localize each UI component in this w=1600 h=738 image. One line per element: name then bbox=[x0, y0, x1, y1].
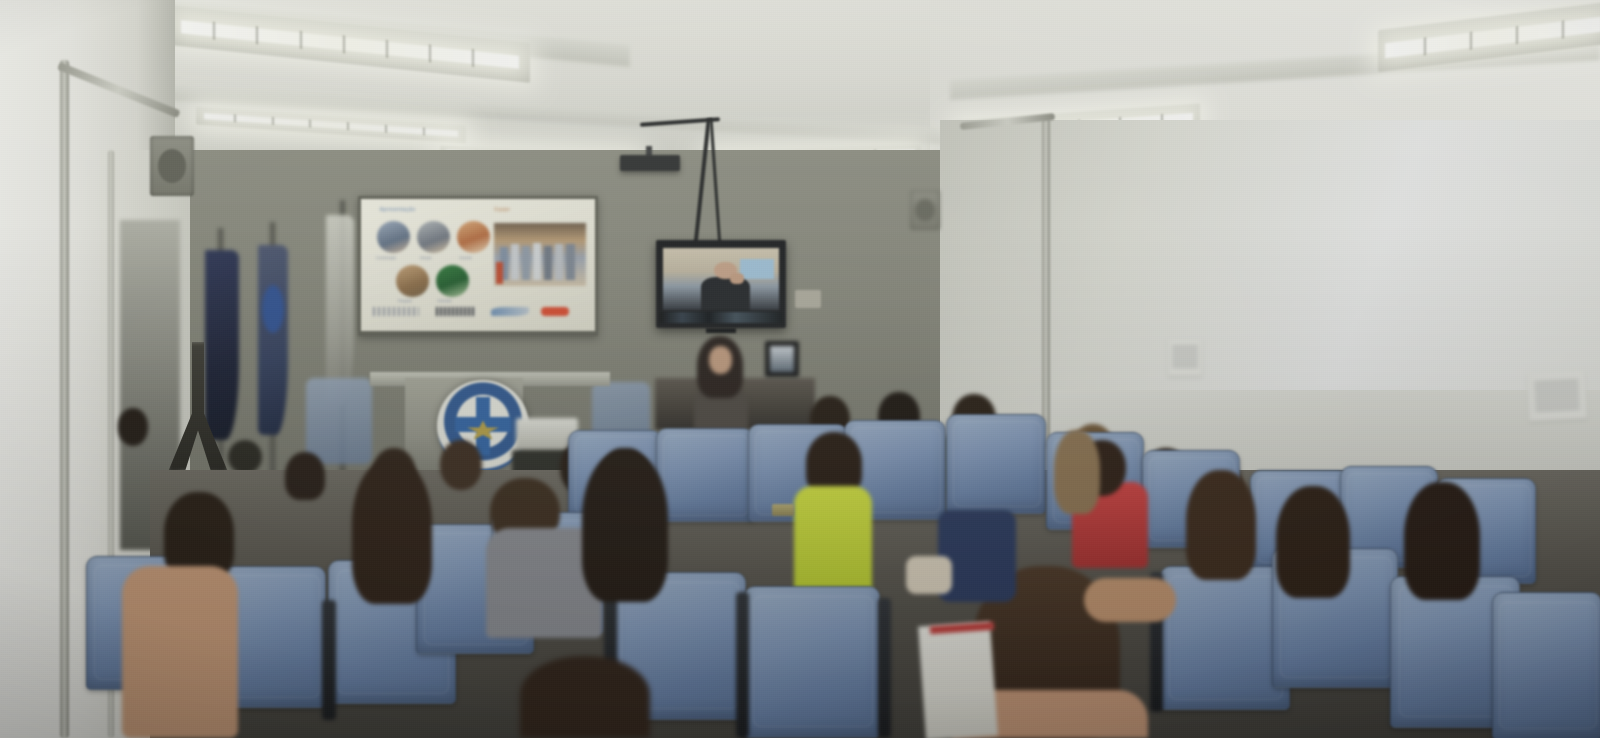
wall-notice-1 bbox=[1168, 340, 1202, 376]
slide-portrait-caption-1: Coordenação bbox=[368, 256, 404, 260]
person-foreground-hair bbox=[520, 656, 650, 738]
slide-portrait-caption-3: Docente bbox=[448, 256, 484, 260]
flag-1 bbox=[205, 250, 239, 440]
person-head bbox=[440, 440, 482, 490]
slide-logo-1 bbox=[373, 307, 419, 317]
person-hair bbox=[582, 452, 668, 602]
slide-group-photo bbox=[494, 223, 585, 286]
wall-television bbox=[656, 240, 786, 328]
auditorium-seat bbox=[744, 586, 880, 738]
person-hair bbox=[1186, 470, 1256, 580]
slide-title: Apresentação bbox=[380, 207, 416, 213]
slide-logo-3 bbox=[491, 307, 529, 317]
auditorium-seat bbox=[1160, 566, 1290, 710]
slide-portrait-4 bbox=[396, 265, 429, 297]
person-hair-blonde bbox=[1054, 430, 1100, 514]
auditorium-seat bbox=[1492, 592, 1600, 738]
auditorium-seat bbox=[946, 414, 1046, 514]
person-hair bbox=[1404, 482, 1480, 600]
person-head bbox=[285, 452, 325, 500]
seat-armrest bbox=[322, 600, 336, 720]
flag-3 bbox=[326, 215, 354, 405]
person-torso-tan bbox=[122, 566, 238, 738]
seat-armrest bbox=[878, 598, 891, 738]
slide-logo-4 bbox=[541, 307, 568, 317]
flag-2 bbox=[258, 245, 288, 435]
ceiling-projector bbox=[620, 155, 680, 171]
seat-plaque bbox=[772, 504, 794, 516]
notebook bbox=[918, 622, 998, 738]
presenter-face bbox=[709, 346, 732, 374]
person-bag bbox=[906, 556, 952, 594]
slide-portrait-3 bbox=[457, 221, 490, 253]
slide-portrait-caption-4: Pesquisa bbox=[387, 299, 423, 303]
slide-portrait-caption-5: Extensão bbox=[427, 299, 463, 303]
table-frame-content bbox=[770, 346, 794, 372]
wall-conduit-right bbox=[1042, 118, 1050, 448]
person-arm bbox=[1084, 578, 1176, 622]
person-hair bbox=[1276, 486, 1350, 598]
wall-notice-2 bbox=[1527, 371, 1587, 422]
person-head bbox=[118, 408, 148, 446]
slide-logo-strip bbox=[373, 305, 584, 322]
slide-logo-2 bbox=[436, 307, 476, 317]
equipment-wheel bbox=[228, 440, 262, 474]
slide-portrait-caption-2: Direção bbox=[408, 256, 444, 260]
tv-remote-participant-hand bbox=[730, 273, 744, 284]
flag-2-emblem bbox=[262, 285, 284, 333]
power-outlet bbox=[795, 290, 821, 308]
projected-slide: Apresentação Equipe Coordenação Direção … bbox=[361, 199, 595, 331]
projection-screen: Apresentação Equipe Coordenação Direção … bbox=[358, 196, 598, 336]
tv-screen bbox=[663, 248, 779, 310]
slide-title-secondary: Equipe bbox=[494, 207, 510, 213]
seat-armrest bbox=[736, 592, 749, 738]
auditorium-seat bbox=[656, 428, 754, 522]
wall-speaker-right bbox=[910, 190, 940, 230]
wall-conduit-left bbox=[60, 60, 69, 738]
slide-portrait-2 bbox=[417, 221, 450, 253]
stage-chair-left bbox=[306, 378, 372, 464]
slide-portrait-5 bbox=[436, 265, 469, 297]
wall-speaker-left bbox=[150, 136, 194, 196]
tv-control-bar bbox=[660, 312, 782, 323]
auditorium-photo: Apresentação Equipe Coordenação Direção … bbox=[0, 0, 1600, 738]
tv-background-window bbox=[740, 259, 775, 279]
slide-portrait-1 bbox=[377, 221, 410, 253]
tv-mount bbox=[706, 328, 736, 333]
person-hair bbox=[352, 460, 432, 604]
